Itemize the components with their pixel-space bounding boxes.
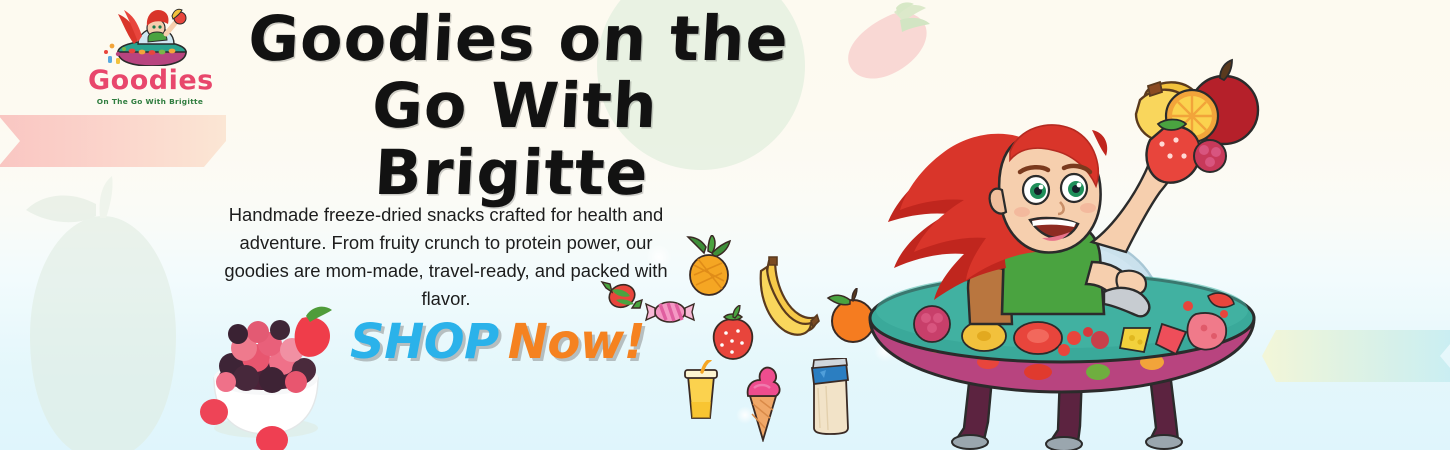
logo-wordmark: Goodies bbox=[88, 67, 212, 94]
shop-now-button[interactable]: SHOPNow! bbox=[350, 318, 645, 366]
ribbon-banner-left bbox=[0, 115, 226, 167]
logo-tagline: On The Go With Brigitte bbox=[88, 97, 212, 106]
girl-in-ufo-logo-icon bbox=[94, 4, 206, 66]
headline-line-2: Go With Brigitte bbox=[225, 73, 802, 207]
shop-label: SHOP bbox=[350, 314, 499, 370]
ribbon-banner-right bbox=[1262, 330, 1450, 382]
banana-bunch-icon bbox=[757, 255, 821, 341]
smoothie-cup-icon bbox=[680, 360, 722, 422]
now-label: Now! bbox=[508, 314, 645, 370]
page-title: Goodies on the Go With Brigitte bbox=[225, 6, 806, 207]
pineapple-icon bbox=[682, 235, 734, 297]
bowl-of-frozen-berries bbox=[186, 300, 346, 450]
pear-watermark-icon bbox=[8, 168, 198, 450]
site-logo[interactable]: Goodies On The Go With Brigitte bbox=[88, 4, 212, 108]
green-candy-icon bbox=[600, 278, 644, 314]
pink-candy-icon bbox=[644, 296, 696, 328]
headline-line-1: Goodies on the bbox=[232, 6, 806, 73]
red-haired-girl-flying-fruit-ufo bbox=[852, 56, 1264, 450]
promo-banner: Goodies On The Go With Brigitte Goodies … bbox=[0, 0, 1450, 450]
strawberry-icon bbox=[710, 305, 756, 361]
ice-cream-cone-icon bbox=[740, 358, 786, 442]
protein-shaker-icon bbox=[806, 358, 854, 436]
